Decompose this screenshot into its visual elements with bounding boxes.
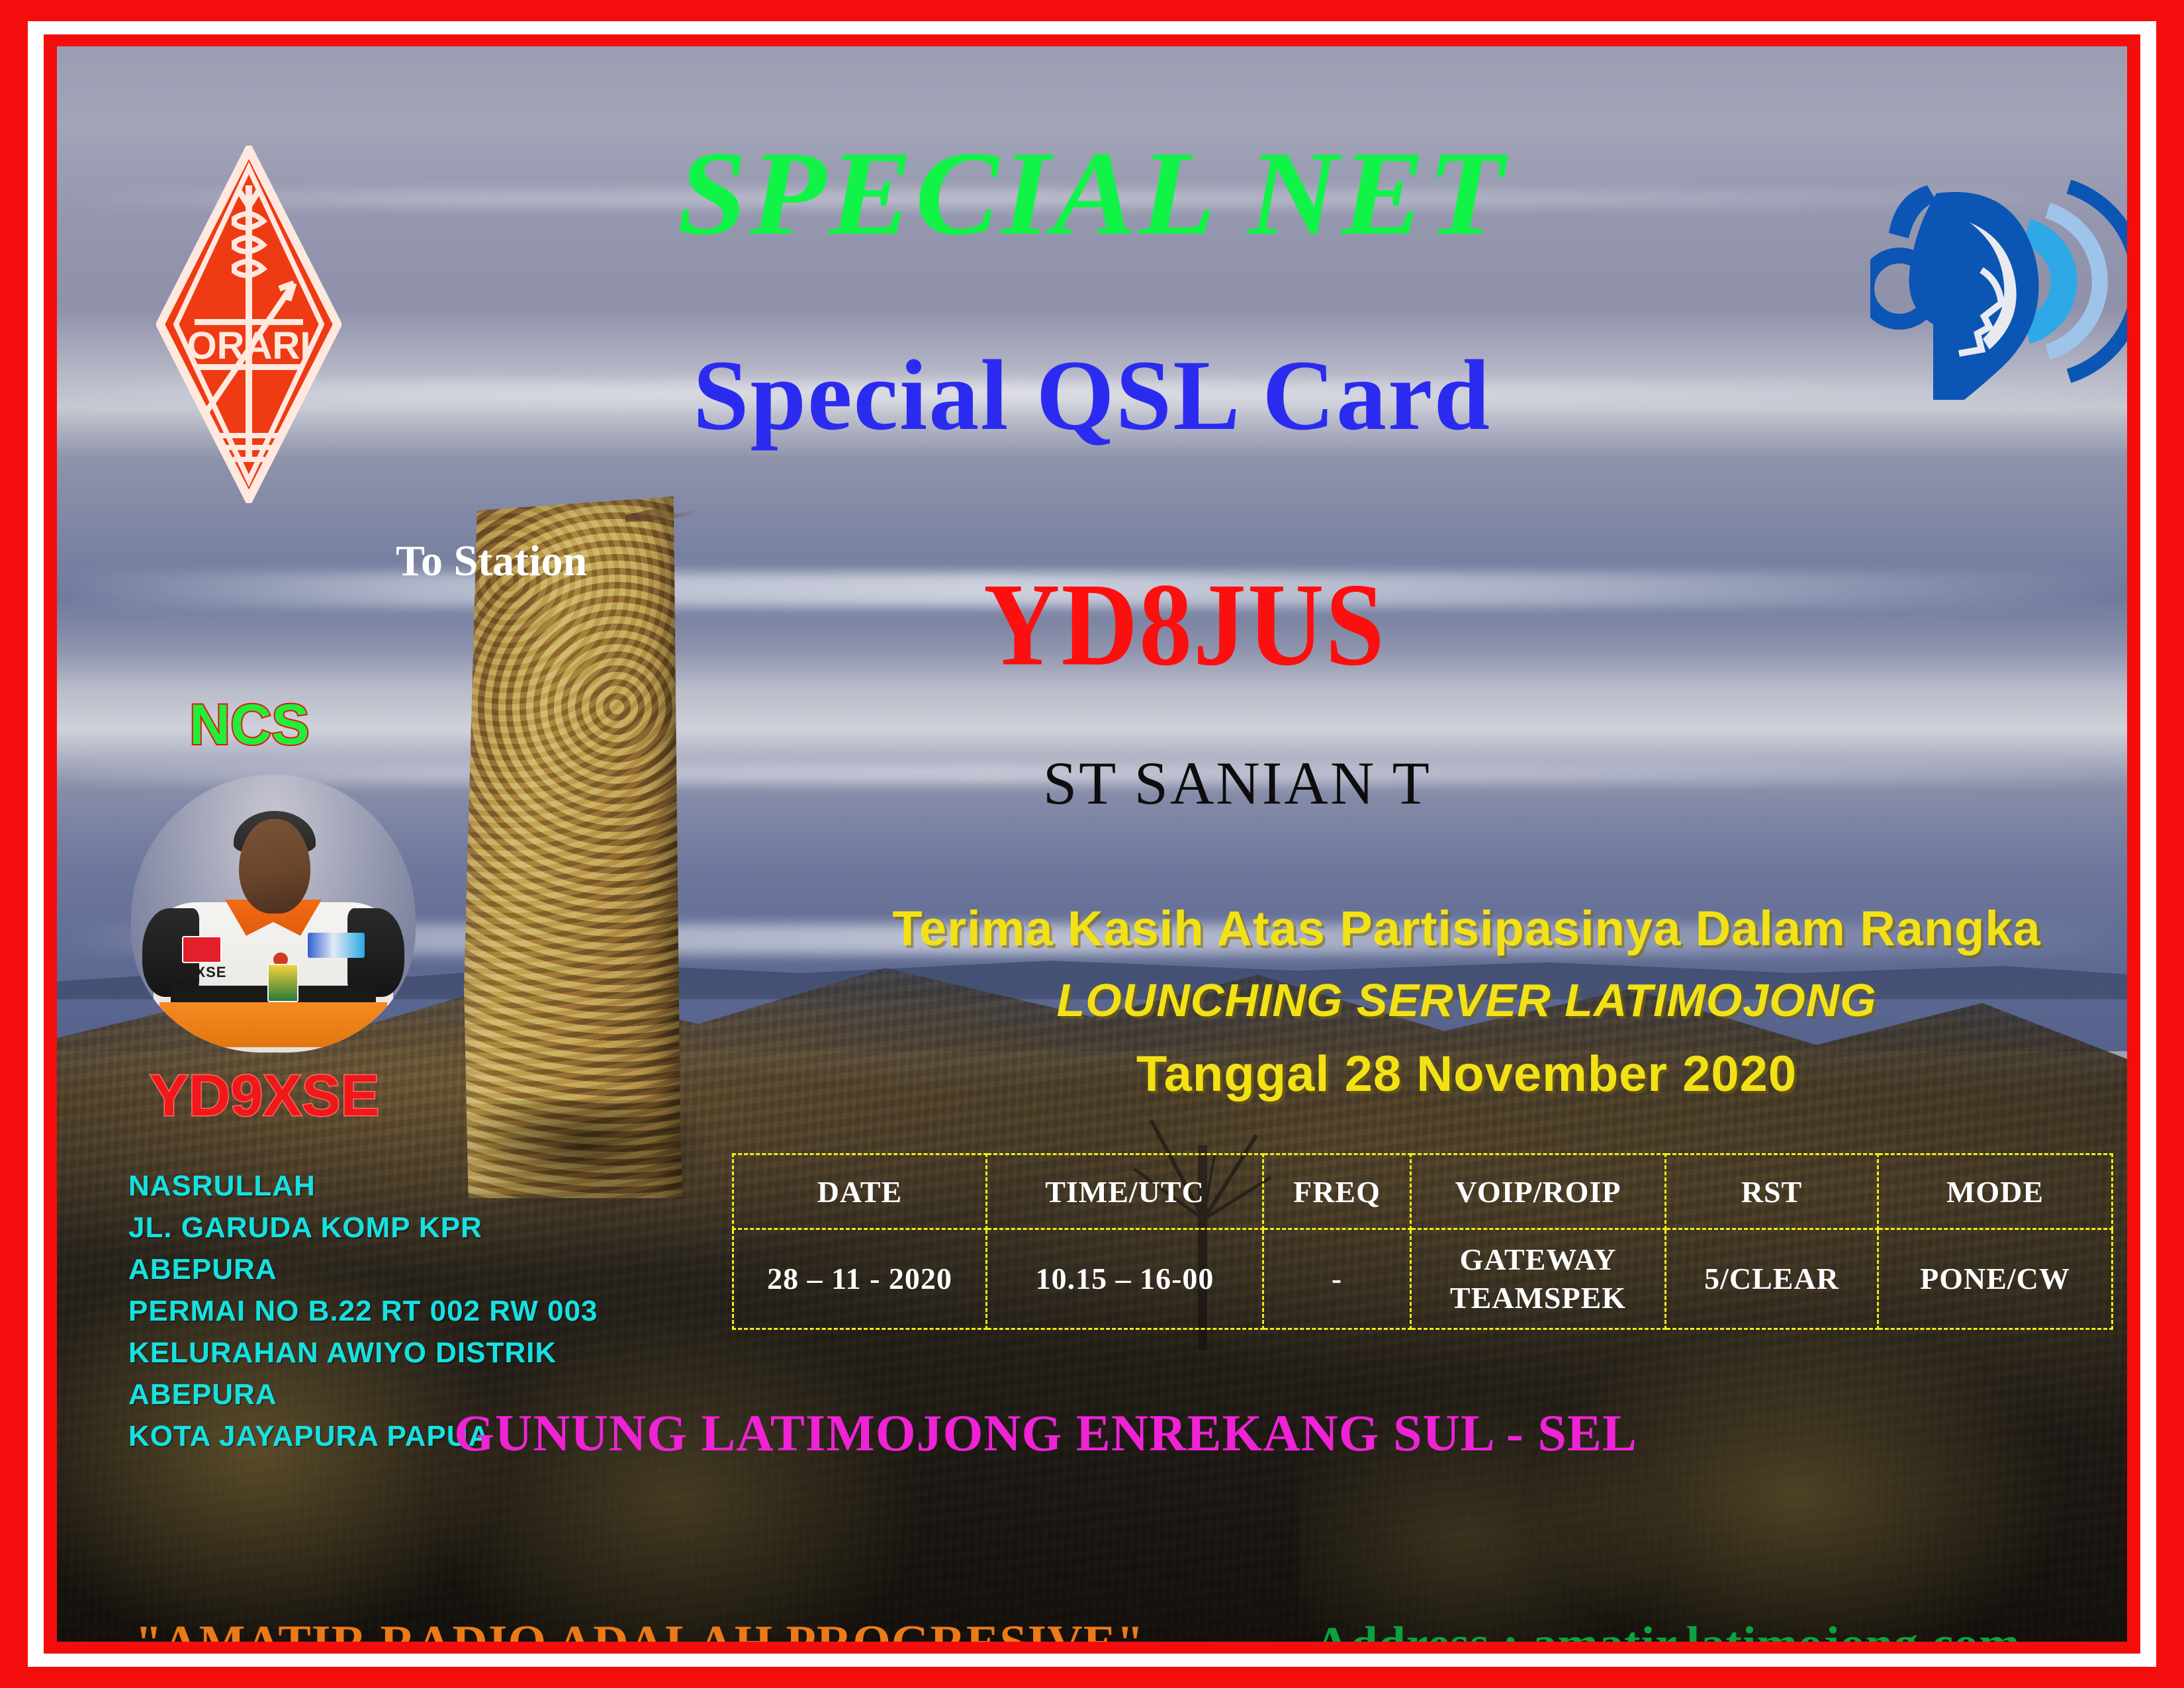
cell-voip: GATEWAY TEAMSPEK bbox=[1411, 1229, 1666, 1329]
address-line: PERMAI NO B.22 RT 002 RW 003 bbox=[128, 1290, 598, 1332]
address-line: JL. GARUDA KOMP KPR bbox=[128, 1207, 598, 1248]
message-line-2: LOUNCHING SERVER LATIMOJONG bbox=[838, 974, 2095, 1027]
table-header-row: DATE TIME/UTC FREQ VOIP/ROIP RST MODE bbox=[733, 1154, 2113, 1229]
page-title: SPECIAL NET bbox=[57, 124, 2127, 263]
address-line: ABEPURA bbox=[128, 1248, 598, 1290]
location-text: GUNUNG LATIMOJONG ENREKANG SUL - SEL bbox=[57, 1403, 2081, 1463]
table-header-rst: RST bbox=[1666, 1154, 1878, 1229]
recipient-station-name: ST SANIAN T bbox=[1043, 748, 1432, 818]
stone-monument-body bbox=[464, 496, 682, 1198]
cell-freq: - bbox=[1263, 1229, 1411, 1329]
cell-time: 10.15 – 16-00 bbox=[987, 1229, 1263, 1329]
address-line: KELURAHAN AWIYO DISTRIK bbox=[128, 1332, 598, 1374]
address-line: NASRULLAH bbox=[128, 1165, 598, 1207]
message-line-3: Tanggal 28 November 2020 bbox=[838, 1045, 2095, 1103]
recipient-callsign: YD8JUS bbox=[983, 556, 1386, 693]
page-subtitle: Special QSL Card bbox=[57, 338, 2127, 453]
thank-you-message: Terima Kasih Atas Partisipasinya Dalam R… bbox=[838, 900, 2095, 1103]
card-photo-background: ORARI SPECIAL NET Special QSL Card To St bbox=[57, 46, 2127, 1642]
portrait-patch-right bbox=[308, 933, 365, 958]
table-row: 28 – 11 - 2020 10.15 – 16-00 - GATEWAY T… bbox=[733, 1229, 2113, 1329]
web-address-text: Address : amatir.latimojong.com bbox=[1314, 1617, 2021, 1642]
stone-monument bbox=[464, 496, 682, 1198]
cell-voip-line2: TEAMSPEK bbox=[1412, 1279, 1664, 1317]
qso-log-table: DATE TIME/UTC FREQ VOIP/ROIP RST MODE 28… bbox=[732, 1153, 2113, 1330]
portrait-uniform-callsign: YD9XSE bbox=[165, 964, 227, 981]
table-header-freq: FREQ bbox=[1263, 1154, 1411, 1229]
ncs-label: NCS bbox=[189, 692, 310, 758]
to-station-label: To Station bbox=[396, 536, 587, 586]
operator-portrait: YD9XSE bbox=[131, 774, 416, 1053]
portrait-id-badge bbox=[267, 964, 298, 1003]
ncs-callsign: YD9XSE bbox=[150, 1062, 379, 1129]
portrait-belt bbox=[159, 1002, 387, 1047]
cell-date: 28 – 11 - 2020 bbox=[733, 1229, 987, 1329]
cell-voip-line1: GATEWAY bbox=[1412, 1241, 1664, 1279]
qsl-card: ORARI SPECIAL NET Special QSL Card To St bbox=[0, 0, 2184, 1688]
motto-text: "AMATIR RADIO ADALAH PROGRESIVE" bbox=[135, 1615, 1144, 1642]
cell-rst: 5/CLEAR bbox=[1666, 1229, 1878, 1329]
table-header-mode: MODE bbox=[1878, 1154, 2113, 1229]
table-header-time: TIME/UTC bbox=[987, 1154, 1263, 1229]
portrait-patch-left bbox=[182, 936, 222, 964]
cell-mode: PONE/CW bbox=[1878, 1229, 2113, 1329]
table-header-voip: VOIP/ROIP bbox=[1411, 1154, 1666, 1229]
message-line-1: Terima Kasih Atas Partisipasinya Dalam R… bbox=[838, 900, 2095, 957]
portrait-face bbox=[239, 819, 310, 914]
table-header-date: DATE bbox=[733, 1154, 987, 1229]
